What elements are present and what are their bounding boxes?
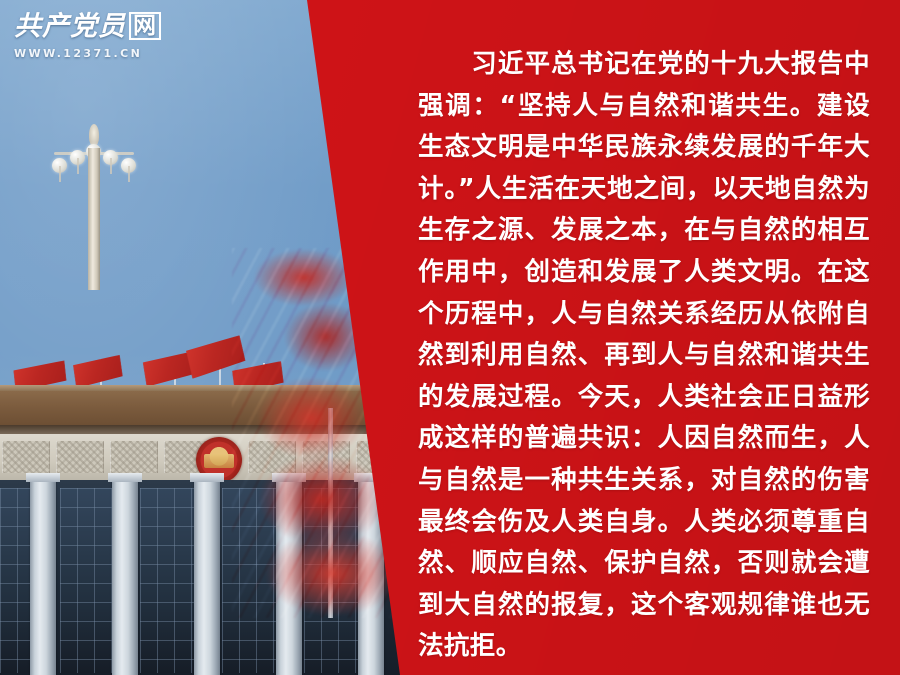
roof-flag bbox=[72, 355, 123, 388]
site-logo-wordmark: 共产党员网 bbox=[14, 12, 194, 40]
lamp-globe-stem bbox=[128, 166, 130, 182]
frieze-panel bbox=[248, 441, 296, 473]
street-lamp bbox=[48, 118, 140, 290]
frieze-panel bbox=[56, 441, 104, 473]
column-capital bbox=[26, 473, 60, 482]
hall-window bbox=[304, 488, 362, 673]
column-capital bbox=[190, 473, 224, 482]
poster-root: 共产党员网 WWW.12371.CN 习近平总书记在党的十九大报告中强调：“坚持… bbox=[0, 0, 900, 675]
lamp-globe-stem bbox=[59, 166, 61, 182]
lamp-finial bbox=[89, 124, 99, 146]
hall-column bbox=[194, 480, 220, 675]
hall-window bbox=[222, 488, 280, 673]
roof-band bbox=[0, 391, 420, 425]
site-logo-url: WWW.12371.CN bbox=[14, 47, 194, 60]
hall-column bbox=[30, 480, 56, 675]
frieze-panel bbox=[302, 441, 350, 473]
great-hall-building bbox=[0, 385, 420, 675]
hall-window bbox=[140, 488, 198, 673]
lamp-globe-stem bbox=[110, 158, 112, 174]
site-logo-text: 共产党员 bbox=[14, 11, 126, 42]
lamp-globe-stem bbox=[77, 158, 79, 174]
hall-column bbox=[112, 480, 138, 675]
frieze-panel bbox=[2, 441, 50, 473]
hall-window bbox=[60, 488, 114, 673]
site-logo-net-char: 网 bbox=[129, 12, 161, 40]
site-logo[interactable]: 共产党员网 WWW.12371.CN bbox=[14, 12, 194, 68]
hall-column bbox=[276, 480, 302, 675]
frieze-panel bbox=[110, 441, 158, 473]
roof-shadow bbox=[0, 425, 420, 434]
lamp-post bbox=[88, 148, 100, 290]
column-capital bbox=[108, 473, 142, 482]
column-capital bbox=[272, 473, 306, 482]
colonnade bbox=[0, 480, 420, 675]
quote-block: 习近平总书记在党的十九大报告中强调：“坚持人与自然和谐共生。建设生态文明是中华民… bbox=[418, 44, 870, 668]
hall-window bbox=[0, 488, 34, 673]
quote-paragraph: 习近平总书记在党的十九大报告中强调：“坚持人与自然和谐共生。建设生态文明是中华民… bbox=[418, 44, 870, 668]
